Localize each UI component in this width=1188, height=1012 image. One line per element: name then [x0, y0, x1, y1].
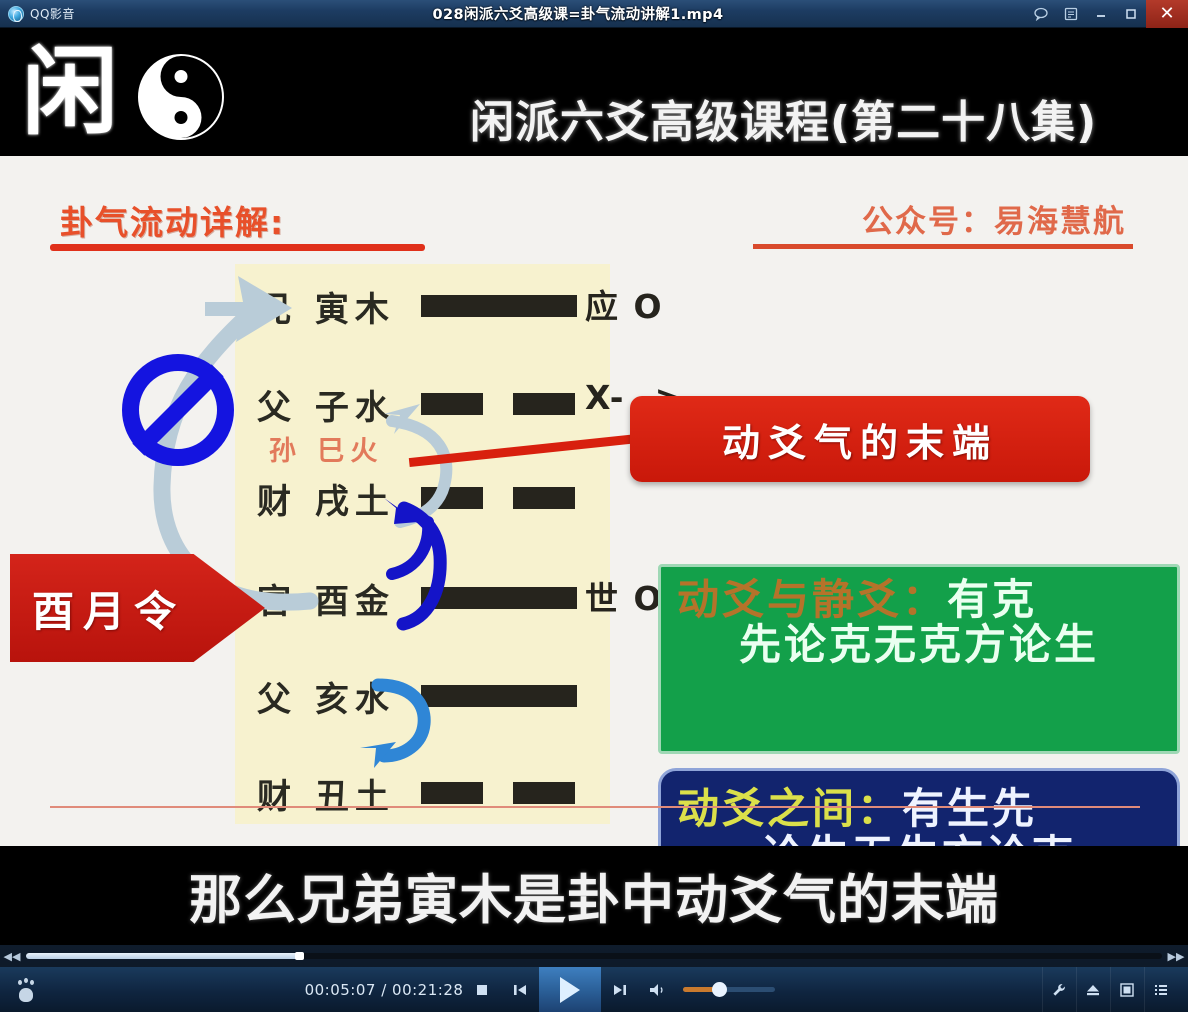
window-title: 028闲派六爻高级课=卦气流动讲解1.mp4	[130, 3, 1026, 24]
comment-icon[interactable]	[1026, 0, 1056, 28]
green-box-line1-suffix: 有克	[947, 575, 1037, 624]
table-row: 兄 寅木 应 O	[235, 282, 610, 338]
subtitle-text: 那么兄弟寅木是卦中动爻气的末端	[189, 858, 999, 934]
player-controls: ◀◀ ▶▶ 00:05:07 / 00:21:28	[0, 945, 1188, 1012]
green-box-line1: 动爻与静爻：有克	[677, 577, 1161, 622]
table-row: 官 酉金 世 O	[235, 574, 610, 630]
table-row: 父 亥水	[235, 672, 610, 728]
rewind-icon[interactable]: ◀◀	[0, 950, 24, 963]
settings-wrench-icon[interactable]	[1042, 967, 1076, 1012]
minimize-button[interactable]	[1086, 0, 1116, 28]
snapshot-icon[interactable]	[1110, 967, 1144, 1012]
right-tool-buttons	[1042, 967, 1188, 1012]
volume-slider[interactable]	[683, 987, 775, 992]
hex-line-yang-5	[421, 685, 577, 707]
window-titlebar: QQ影音 028闲派六爻高级课=卦气流动讲解1.mp4 ✕	[0, 0, 1188, 28]
slide-bottom-rule	[50, 806, 1140, 808]
slide-heading-left: 卦气流动详解:	[60, 196, 285, 244]
playlist-icon[interactable]	[1144, 967, 1178, 1012]
eject-icon[interactable]	[1076, 967, 1110, 1012]
hex-line-label-1: 兄 寅木	[257, 282, 395, 331]
app-name-label: QQ影音	[30, 5, 75, 22]
hex-line-yin-left-6	[421, 782, 483, 804]
hex-line-yin-left-3	[421, 487, 483, 509]
hex-line-label-5: 父 亥水	[257, 672, 395, 721]
seek-slider[interactable]	[26, 953, 1162, 959]
course-title: 闲派六爻高级课程(第二十八集)	[470, 86, 1170, 150]
volume-knob[interactable]	[712, 982, 727, 997]
hex-line-label-4: 官 酉金	[257, 574, 395, 623]
hex-line-label-6: 财 丑土	[257, 769, 395, 818]
hex-line-mark-1: 应 O	[585, 280, 664, 328]
red-callout-label: 动爻气的末端	[722, 412, 998, 467]
slide-heading-right: 公众号：易海慧航	[862, 196, 1126, 241]
next-track-button[interactable]	[601, 967, 639, 1012]
slide-body: 卦气流动详解: 公众号：易海慧航 兄 寅木 应 O 父 子水 X- -> 孙 巳…	[0, 156, 1188, 846]
fast-forward-icon[interactable]: ▶▶	[1164, 950, 1188, 963]
blue-box-line1: 动爻之间：有生先	[677, 785, 1161, 832]
hex-line-label-2: 父 子水	[257, 380, 395, 429]
prohibition-icon	[122, 354, 234, 466]
play-button[interactable]	[539, 967, 601, 1012]
hex-line-yang-1	[421, 295, 577, 317]
slide-heading-right-underline	[753, 244, 1133, 249]
hex-line-label-3: 财 戌土	[257, 474, 395, 523]
slide-heading-left-underline	[50, 244, 425, 251]
logo-character: 闲	[22, 42, 118, 142]
play-triangle-icon	[560, 977, 580, 1003]
volume-track[interactable]	[683, 987, 775, 992]
previous-track-button[interactable]	[501, 967, 539, 1012]
green-rule-box: 动爻与静爻：有克 先论克无克方论生	[658, 564, 1180, 754]
slide-header-band: 闲 闲派六爻高级课程(第二十八集)	[0, 28, 1188, 156]
transport-row: 00:05:07 / 00:21:28	[0, 967, 1188, 1012]
taiji-yinyang-icon	[138, 54, 224, 140]
hidden-spirit-label: 孙 巳火	[269, 429, 383, 468]
blue-box-line1-suffix: 有生先	[902, 784, 1037, 833]
hex-line-yang-4	[421, 587, 577, 609]
hex-line-yin-left-2	[421, 393, 483, 415]
hex-line-yin-right-3	[513, 487, 575, 509]
maximize-button[interactable]	[1116, 0, 1146, 28]
video-surface[interactable]: 闲 闲派六爻高级课程(第二十八集) 卦气流动详解: 公众号：易海慧航 兄 寅木 …	[0, 28, 1188, 945]
qq-player-logo-icon	[8, 6, 24, 22]
blue-box-line1-prefix: 动爻之间：	[677, 784, 902, 833]
table-row: 财 丑土	[235, 769, 610, 825]
taiji-dot-upper	[175, 70, 188, 83]
note-icon[interactable]	[1056, 0, 1086, 28]
seek-handle[interactable]	[295, 952, 304, 960]
month-command-banner: 酉月令	[10, 554, 265, 662]
table-row: 财 戌土	[235, 474, 610, 530]
green-box-line2: 先论克无克方论生	[677, 622, 1161, 667]
subtitle-band: 那么兄弟寅木是卦中动爻气的末端	[0, 846, 1188, 945]
seek-row: ◀◀ ▶▶	[0, 945, 1188, 967]
green-box-line1-prefix: 动爻与静爻：	[677, 575, 947, 624]
hex-line-mark-4: 世 O	[585, 572, 664, 620]
red-callout-box: 动爻气的末端	[630, 396, 1090, 482]
volume-icon[interactable]	[639, 967, 677, 1012]
footprint-icon[interactable]	[16, 978, 38, 1002]
time-display: 00:05:07 / 00:21:28	[305, 981, 464, 999]
window-controls: ✕	[1026, 0, 1188, 28]
close-button[interactable]: ✕	[1146, 0, 1188, 28]
hex-line-yin-right-6	[513, 782, 575, 804]
hexagram-panel: 兄 寅木 应 O 父 子水 X- -> 孙 巳火 财 戌土 官 酉金	[235, 264, 610, 824]
brand-logo: 闲	[18, 40, 248, 145]
stop-button[interactable]	[463, 967, 501, 1012]
seek-progress-fill	[26, 953, 299, 959]
month-command-label: 酉月令	[10, 578, 185, 639]
hex-line-yin-right-2	[513, 393, 575, 415]
table-row: 父 子水 X- ->	[235, 380, 610, 436]
taiji-dot-lower	[175, 111, 188, 124]
